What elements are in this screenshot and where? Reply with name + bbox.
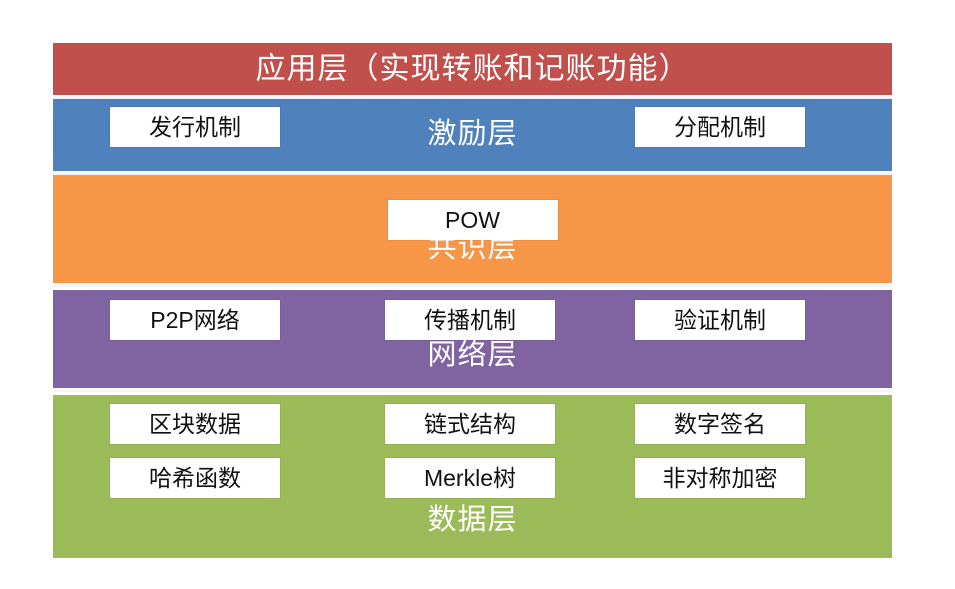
- component-chip: 发行机制: [110, 107, 280, 147]
- layer-network-title: 网络层: [53, 340, 892, 372]
- layer-consensus: 共识层 POW: [53, 175, 892, 283]
- layer-network: 网络层 P2P网络 传播机制 验证机制: [53, 290, 892, 388]
- layer-application-title: 应用层（实现转账和记账功能）: [53, 53, 892, 86]
- component-chip: 区块数据: [110, 404, 280, 444]
- layer-incentive: 激励层 发行机制 分配机制: [53, 99, 892, 171]
- component-chip: POW: [388, 200, 558, 240]
- component-chip: 分配机制: [635, 107, 805, 147]
- component-chip: 非对称加密: [635, 458, 805, 498]
- component-chip: 传播机制: [385, 300, 555, 340]
- component-chip: Merkle树: [385, 458, 555, 498]
- component-chip: 哈希函数: [110, 458, 280, 498]
- layer-data: 数据层 区块数据 链式结构 数字签名 哈希函数 Merkle树 非对称加密: [53, 395, 892, 558]
- component-chip: P2P网络: [110, 300, 280, 340]
- component-chip: 数字签名: [635, 404, 805, 444]
- layer-data-title: 数据层: [53, 505, 892, 537]
- component-chip: 链式结构: [385, 404, 555, 444]
- blockchain-architecture-diagram: 应用层（实现转账和记账功能） 激励层 发行机制 分配机制 共识层 POW 网络层…: [53, 43, 892, 558]
- layer-application: 应用层（实现转账和记账功能）: [53, 43, 892, 95]
- component-chip: 验证机制: [635, 300, 805, 340]
